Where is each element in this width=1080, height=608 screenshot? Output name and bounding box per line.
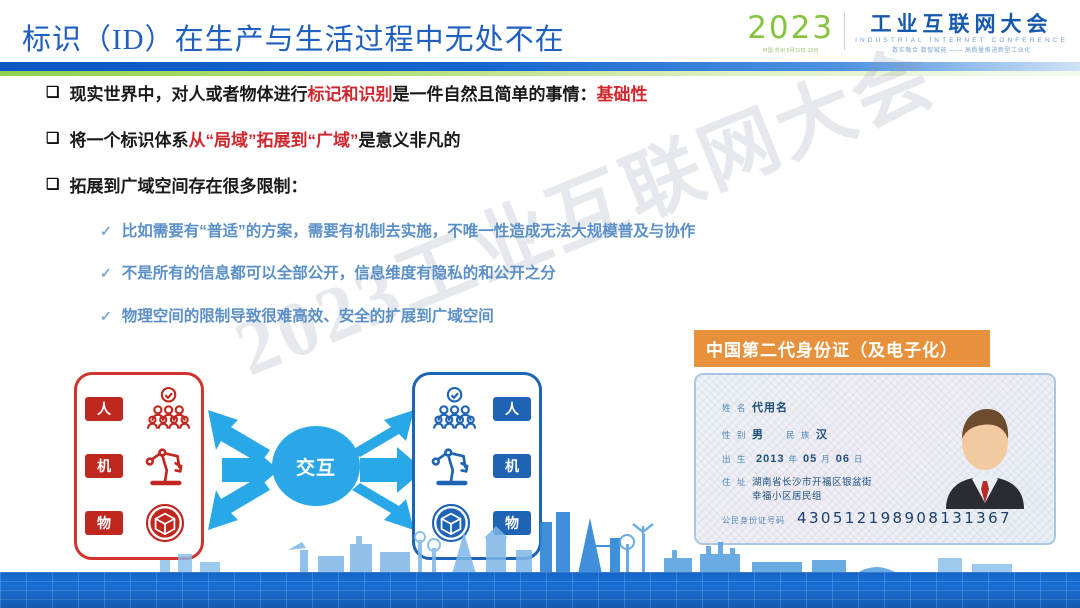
id-field-label: 民 族 [786,429,816,441]
id-field-label: 姓 名 [722,402,752,414]
bullet-text: 拓展到广域空间存在很多限制： [69,176,307,198]
entity-row-machine: 机 [423,439,531,493]
logo-date: 中国·苏州 5月11日-13日 [747,47,834,54]
id-birth-month: 05 [803,453,817,465]
city-skyline-graphic [0,504,1080,574]
id-field-name: 姓 名 代用名 [722,399,932,415]
id-card-banner: 中国第二代身份证（及电子化） [694,330,990,367]
bullet-text: 将一个标识体系从“局域”拓展到“广域”是意义非凡的 [69,130,460,152]
entity-row-person: 人 [423,382,531,436]
logo-year-block: 2023 中国·苏州 5月11日-13日 [747,13,834,54]
sub-bullet-item: ✓ 物理空间的限制导致很难高效、安全的扩展到广域空间 [100,307,846,327]
bullet-seg-highlight: 从“局域”拓展到“广域” [188,131,358,150]
sub-bullet-item: ✓ 比如需要有“普适”的方案，需要有机制去实施，不唯一性造成无法大规模普及与协作 [100,222,846,242]
conference-logo: 2023 中国·苏州 5月11日-13日 工业互联网大会 INDUSTRIAL … [747,12,1068,54]
sub-bullet-text: 物理空间的限制导致很难高效、安全的扩展到广域空间 [122,307,494,327]
logo-divider [844,12,845,50]
header-divider-blue [0,62,1080,71]
bullet-seg-highlight: 标记和识别 [307,85,392,104]
id-field-label: 性 别 [722,429,752,441]
id-field-value: 代用名 [752,399,788,415]
sub-bullet-text: 比如需要有“普适”的方案，需要有机制去实施，不唯一性造成无法大规模普及与协作 [122,222,696,242]
bullet-item: ❑ 拓展到广域空间存在很多限制： [46,176,846,198]
people-group-check-icon [423,384,479,434]
entity-label-machine: 机 [85,454,123,478]
people-group-check-icon [137,384,193,434]
sub-bullet-item: ✓ 不是所有的信息都可以全部公开，信息维度有隐私的和公开之分 [100,264,846,284]
bullet-seg: 是一件自然且简单的事情： [392,85,596,104]
id-birth-year: 2013 [756,453,784,465]
entity-label-machine: 机 [493,454,531,478]
logo-name-en: INDUSTRIAL INTERNET CONFERENCE [855,37,1068,44]
header-divider-green [0,71,1080,76]
hub-node: 交互 [272,426,360,506]
page-title: 标识（ID）在生产与生活过程中无处不在 [22,16,565,58]
id-field-address: 住 址 湖南省长沙市开福区银盆街 幸福小区居民组 [722,476,932,504]
entity-row-person: 人 [85,382,193,436]
id-field-value: 汉 [816,426,828,442]
check-icon: ✓ [100,264,112,282]
robot-arm-icon [423,441,479,491]
bullet-seg: 现实世界中，对人或者物体进行 [69,85,307,104]
entity-label-person: 人 [493,397,531,421]
id-birth-day-unit: 日 [854,453,865,465]
logo-tagline: 数实融合 数智赋能 —— 高质量推进新型工业化 [855,45,1068,54]
check-icon: ✓ [100,222,112,240]
id-field-label: 出 生 [722,453,752,465]
id-birth-month-unit: 月 [821,453,832,465]
sub-bullet-text: 不是所有的信息都可以全部公开，信息维度有隐私的和公开之分 [122,264,556,284]
check-icon: ✓ [100,307,112,325]
id-field-value: 湖南省长沙市开福区银盆街 幸福小区居民组 [752,476,872,504]
avatar [942,399,1028,509]
logo-name-cn: 工业互联网大会 [855,14,1068,36]
robot-arm-icon [137,441,193,491]
bullet-item: ❑ 将一个标识体系从“局域”拓展到“广域”是意义非凡的 [46,130,846,152]
bullet-list: ❑ 现实世界中，对人或者物体进行标记和识别是一件自然且简单的事情：基础性 ❑ 将… [46,84,846,349]
bullet-marker: ❑ [46,176,59,195]
entity-label-person: 人 [85,397,123,421]
bullet-seg-highlight: 基础性 [596,85,647,104]
bullet-seg: 将一个标识体系 [69,131,188,150]
bullet-text: 现实世界中，对人或者物体进行标记和识别是一件自然且简单的事情：基础性 [69,84,647,106]
id-field-birth: 出 生 2013 年 05 月 06 日 [722,453,932,465]
id-card-fields: 姓 名 代用名 性 别 男 民 族 汉 出 生 2013 年 05 月 06 日 [722,399,932,515]
entity-row-machine: 机 [85,439,193,493]
id-birth-year-unit: 年 [788,453,799,465]
bullet-item: ❑ 现实世界中，对人或者物体进行标记和识别是一件自然且简单的事情：基础性 [46,84,846,106]
logo-name-block: 工业互联网大会 INDUSTRIAL INTERNET CONFERENCE 数… [855,14,1068,54]
id-field-value: 男 [752,426,764,442]
slide-root: 标识（ID）在生产与生活过程中无处不在 2023 中国·苏州 5月11日-13日… [0,0,1080,608]
id-birth-day: 06 [836,453,850,465]
id-field-sex-ethnic: 性 别 男 民 族 汉 [722,426,932,442]
id-field-label: 住 址 [722,476,752,488]
sub-bullet-list: ✓ 比如需要有“普适”的方案，需要有机制去实施，不唯一性造成无法大规模普及与协作… [100,222,846,326]
footer-grid-overlay [0,572,1080,608]
bullet-marker: ❑ [46,130,59,149]
logo-year: 2023 [747,13,834,44]
bullet-seg: 是意义非凡的 [358,131,460,150]
bullet-marker: ❑ [46,84,59,103]
